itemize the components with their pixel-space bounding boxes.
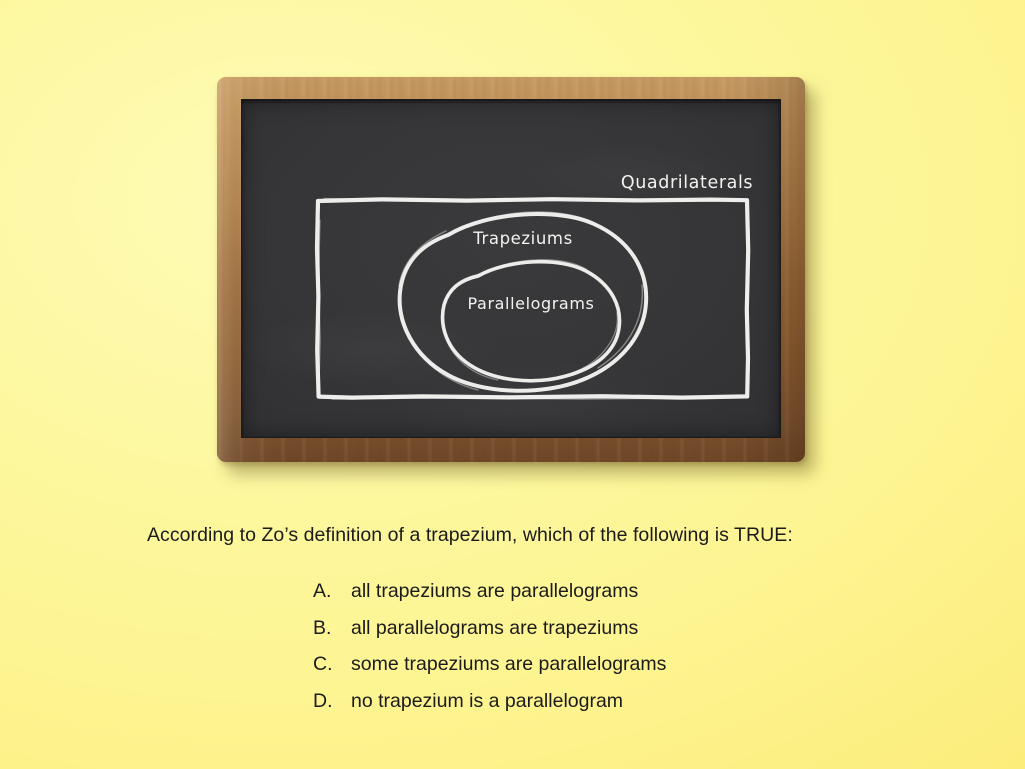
label-quadrilaterals: Quadrilaterals [621, 173, 753, 193]
chalkboard-surface: Quadrilaterals Trapeziums Parallelograms [241, 99, 781, 438]
venn-diagram: Quadrilaterals Trapeziums Parallelograms [242, 100, 781, 438]
option-text-d: no trapezium is a parallelogram [351, 690, 623, 713]
option-letter-a: A. [313, 580, 351, 603]
option-row-c[interactable]: C. some trapeziums are parallelograms [313, 653, 833, 690]
blackboard-frame: Quadrilaterals Trapeziums Parallelograms [217, 77, 805, 462]
option-row-d[interactable]: D. no trapezium is a parallelogram [313, 690, 833, 727]
slide-canvas: Quadrilaterals Trapeziums Parallelograms… [0, 0, 1025, 769]
parallelograms-ellipse [443, 260, 620, 381]
option-letter-d: D. [313, 690, 351, 713]
option-letter-b: B. [313, 617, 351, 640]
option-text-a: all trapeziums are parallelograms [351, 580, 638, 603]
answer-options-list: A. all trapeziums are parallelograms B. … [313, 580, 833, 726]
option-text-c: some trapeziums are parallelograms [351, 653, 666, 676]
option-text-b: all parallelograms are trapeziums [351, 617, 638, 640]
option-row-b[interactable]: B. all parallelograms are trapeziums [313, 617, 833, 654]
question-text: According to Zo’s definition of a trapez… [147, 524, 793, 547]
label-trapeziums: Trapeziums [472, 229, 573, 248]
label-parallelograms: Parallelograms [468, 294, 595, 313]
option-letter-c: C. [313, 653, 351, 676]
option-row-a[interactable]: A. all trapeziums are parallelograms [313, 580, 833, 617]
